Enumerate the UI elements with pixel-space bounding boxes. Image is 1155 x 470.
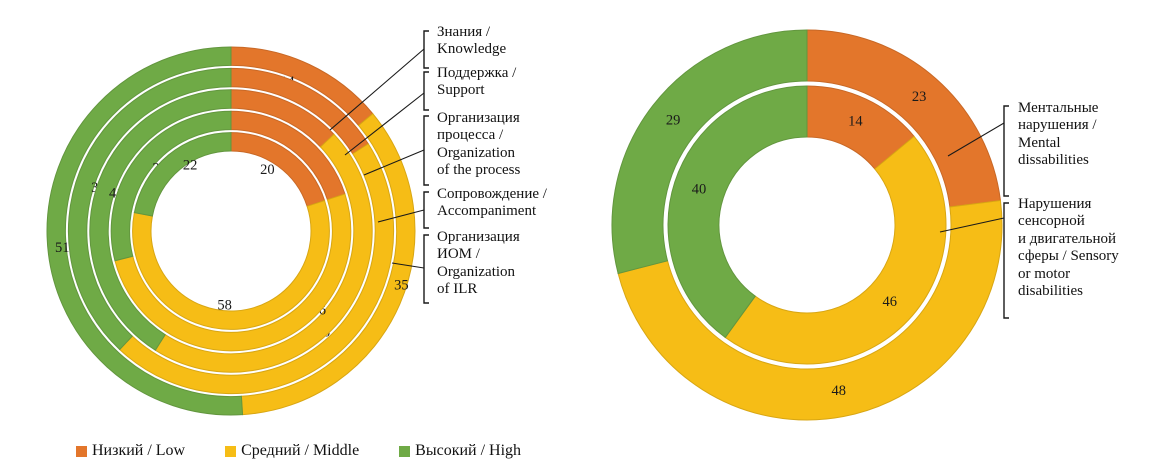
segment-value-label: 14	[848, 114, 863, 130]
segment-value-label: 58	[217, 297, 232, 313]
legend-swatch-middle-icon	[225, 446, 236, 457]
segment-value-label: 48	[832, 383, 847, 399]
segment-value-label: 40	[692, 181, 707, 197]
segment-value-label: 29	[666, 112, 681, 128]
callout-label-support: Поддержка / Support	[437, 65, 516, 100]
left-chart-legend: Низкий / LowСредний / MiddleВысокий / Hi…	[76, 442, 521, 460]
legend-label-middle: Средний / Middle	[241, 442, 359, 460]
legend-label-high: Высокий / High	[415, 442, 521, 460]
legend-label-low: Низкий / Low	[92, 442, 185, 460]
segment-value-label: 20	[260, 162, 275, 178]
callout-label-accompaniment: Сопровождение / Accompaniment	[437, 186, 547, 221]
legend-swatch-high-icon	[399, 446, 410, 457]
callout-label-organization-of-ilr: Организация ИОМ / Organization of ILR	[437, 229, 520, 299]
legend-item-middle[interactable]: Средний / Middle	[225, 442, 359, 460]
segment-value-label: 35	[394, 278, 409, 294]
left-chart-panel: 143551164638134641205129205822 Знания / …	[0, 0, 600, 470]
donut-ring-2: 144640	[668, 86, 946, 364]
segment-value-label: 22	[183, 158, 198, 174]
legend-item-low[interactable]: Низкий / Low	[76, 442, 185, 460]
callout-label-sensory-motor: Нарушения сенсорной и двигательной сферы…	[1018, 196, 1119, 300]
callout-label-knowledge: Знания / Knowledge	[437, 24, 506, 59]
segment-value-label: 46	[882, 294, 897, 310]
legend-item-high[interactable]: Высокий / High	[399, 442, 521, 460]
donut-ring-5: 205822	[133, 133, 330, 330]
callout-label-organization-of-process: Организация процесса / Organization of t…	[437, 110, 520, 180]
segment-value-label: 51	[55, 240, 70, 256]
donut-charts-figure: 143551164638134641205129205822 Знания / …	[0, 0, 1155, 470]
legend-swatch-low-icon	[76, 446, 87, 457]
callout-label-mental: Ментальные нарушения / Mental dissabilit…	[1018, 100, 1098, 170]
segment-value-label: 23	[912, 89, 927, 105]
right-chart-panel: 234829144640 Ментальные нарушения / Ment…	[600, 0, 1155, 470]
